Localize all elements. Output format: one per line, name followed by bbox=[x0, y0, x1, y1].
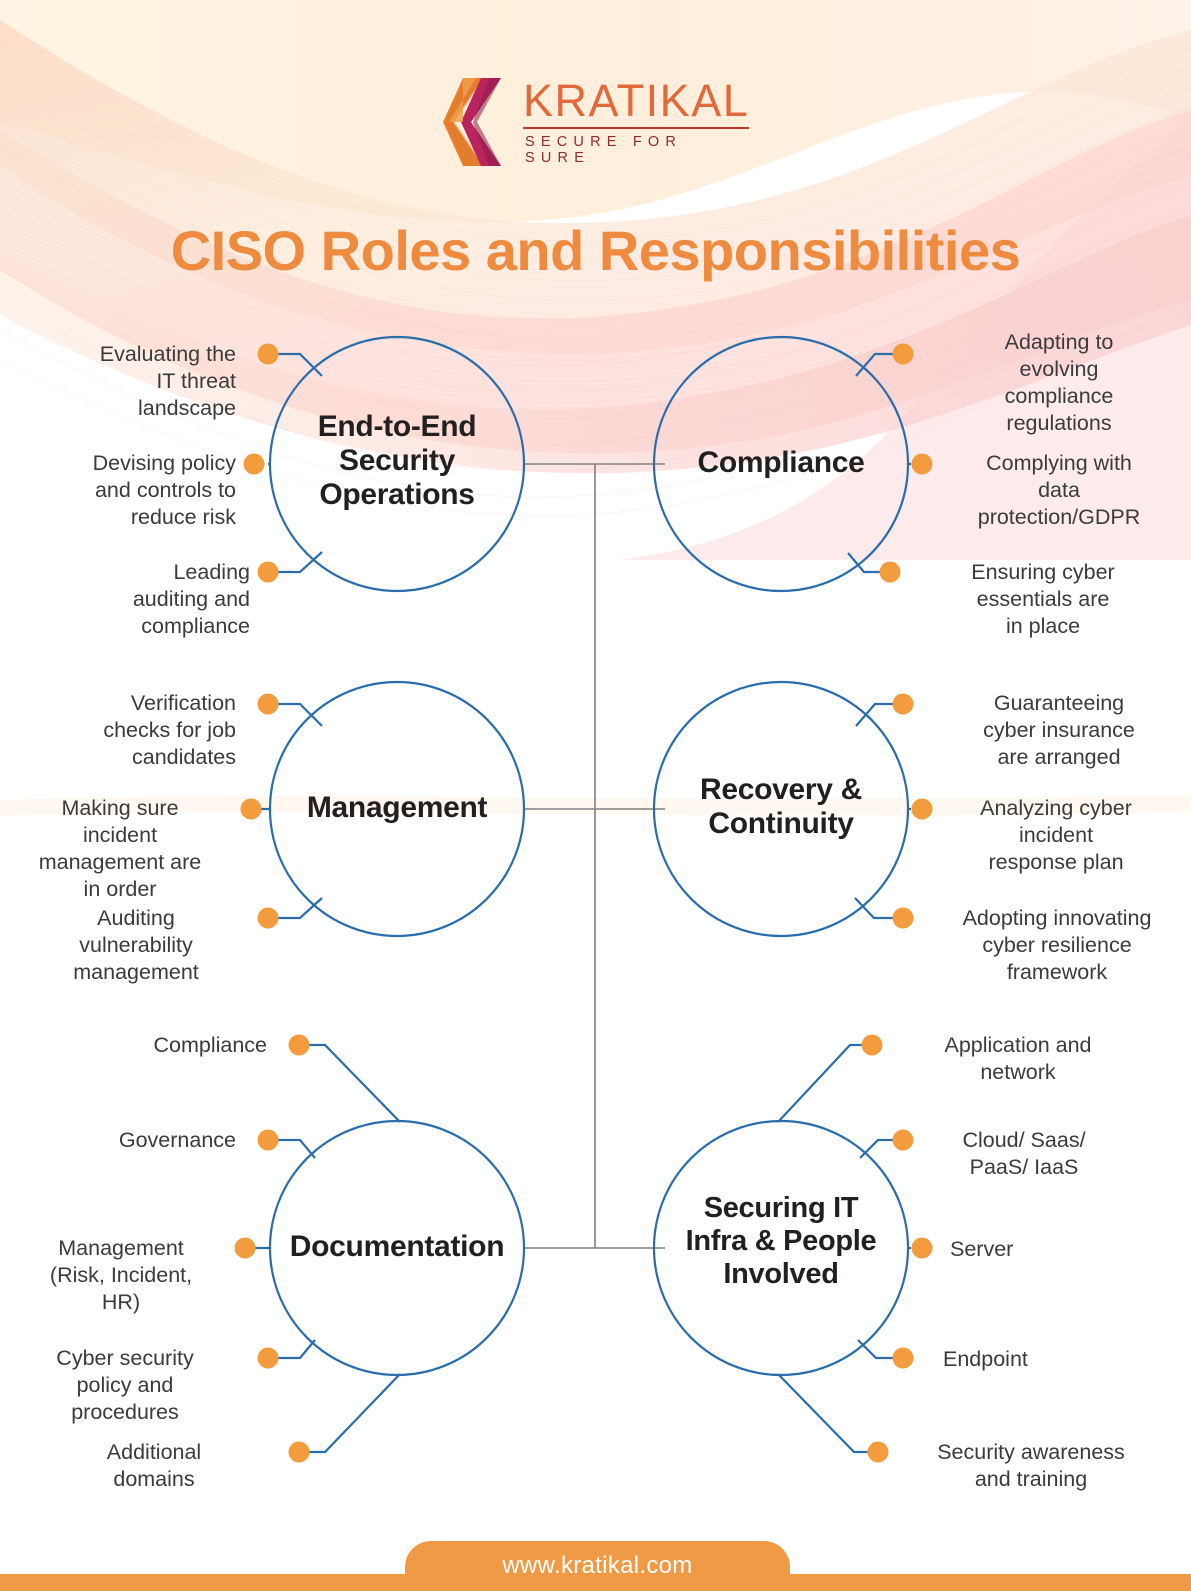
leaf-dot bbox=[893, 1348, 914, 1369]
logo-wordmark: KRATIKAL SECURE FOR SURE bbox=[523, 78, 749, 166]
leaf-dot bbox=[862, 1035, 883, 1056]
leaf-label-verification-checks-for-job-candidates: Verification checks for job candidates bbox=[10, 690, 236, 771]
center-spine bbox=[525, 464, 665, 1248]
leaf-label-additional-domains: Additional domains bbox=[40, 1439, 268, 1493]
leaf-label-leading-auditing-and-compliance: Leading auditing and compliance bbox=[10, 559, 250, 640]
leaf-dot bbox=[258, 344, 279, 365]
leaf-dot bbox=[258, 1348, 279, 1369]
node-title-management: Management bbox=[287, 791, 507, 825]
node-title-securing-it-infra-people-involved: Securing IT Infra & People Involved bbox=[666, 1192, 896, 1291]
logo-name: KRATIKAL bbox=[523, 78, 749, 129]
leaf-label-adapting-to-evolving-compliance-regulations: Adapting to evolving compliance regulati… bbox=[934, 329, 1184, 437]
leaf-dot bbox=[880, 562, 901, 583]
leaf-dots-management bbox=[241, 694, 279, 929]
leaf-label-guaranteeing-cyber-insurance-are-arranged: Guaranteeing cyber insurance are arrange… bbox=[934, 690, 1184, 771]
leaf-label-devising-policy-and-controls-to-reduce-risk: Devising policy and controls to reduce r… bbox=[10, 450, 236, 531]
node-title-recovery-continuity: Recovery & Continuity bbox=[681, 773, 881, 841]
leaf-dot bbox=[893, 344, 914, 365]
leaf-dot bbox=[289, 1442, 310, 1463]
leaf-dot bbox=[893, 694, 914, 715]
leaf-dot bbox=[258, 1130, 279, 1151]
leaf-dot bbox=[258, 694, 279, 715]
leaf-label-management-risk-incident-hr: Management (Risk, Incident, HR) bbox=[10, 1235, 232, 1316]
node-title-compliance: Compliance bbox=[671, 446, 891, 480]
leaf-dot bbox=[241, 799, 262, 820]
leaf-label-security-awareness-and-training: Security awareness and training bbox=[906, 1439, 1156, 1493]
leaf-label-governance: Governance bbox=[30, 1127, 236, 1154]
leaf-label-auditing-vulnerability-management: Auditing vulnerability management bbox=[10, 905, 262, 986]
leaf-label-making-sure-incident-management-are-in-order: Making sure incident management are in o… bbox=[6, 795, 234, 903]
leaf-label-compliance: Compliance bbox=[30, 1032, 267, 1059]
logo-tagline: SECURE FOR SURE bbox=[523, 129, 749, 166]
leaf-label-cloud-saas-paas-iaas: Cloud/ Saas/ PaaS/ IaaS bbox=[934, 1127, 1114, 1181]
node-title-end-to-end-security-operations: End-to-End Security Operations bbox=[297, 410, 497, 513]
node-title-documentation: Documentation bbox=[277, 1230, 517, 1264]
footer-website-url[interactable]: www.kratikal.com bbox=[405, 1552, 790, 1580]
leaf-dot bbox=[235, 1238, 256, 1259]
leaf-dot bbox=[258, 562, 279, 583]
leaf-dot bbox=[244, 454, 265, 475]
leaf-dot bbox=[893, 908, 914, 929]
leaf-dot bbox=[912, 454, 933, 475]
leaf-dot bbox=[868, 1442, 889, 1463]
leaf-label-application-and-network: Application and network bbox=[903, 1032, 1133, 1086]
leaf-label-server: Server bbox=[950, 1236, 1130, 1263]
leaf-dots-end-to-end-security-operations bbox=[244, 344, 279, 583]
leaf-dot bbox=[912, 799, 933, 820]
leaf-label-complying-with-data-protection-gdpr: Complying with data protection/GDPR bbox=[934, 450, 1184, 531]
leaf-label-evaluating-the-it-threat-landscape: Evaluating the IT threat landscape bbox=[10, 341, 236, 422]
leaf-dot bbox=[893, 1130, 914, 1151]
page-title: CISO Roles and Responsibilities bbox=[0, 218, 1191, 283]
leaf-label-adopting-innovating-cyber-resilience-framework: Adopting innovating cyber resilience fra… bbox=[930, 905, 1184, 986]
leaf-label-endpoint: Endpoint bbox=[943, 1346, 1123, 1373]
leaf-dots-recovery-continuity bbox=[893, 694, 933, 929]
brand-logo: KRATIKAL SECURE FOR SURE bbox=[443, 72, 743, 172]
leaf-dot bbox=[912, 1238, 933, 1259]
leaf-label-cyber-security-policy-and-procedures: Cyber security policy and procedures bbox=[14, 1345, 236, 1426]
leaf-label-ensuring-cyber-essentials-are-in-place: Ensuring cyber essentials are in place bbox=[928, 559, 1158, 640]
leaf-dot bbox=[289, 1035, 310, 1056]
kratikal-chevron-logo-icon bbox=[443, 76, 509, 168]
leaf-label-analyzing-cyber-incident-response-plan: Analyzing cyber incident response plan bbox=[934, 795, 1178, 876]
